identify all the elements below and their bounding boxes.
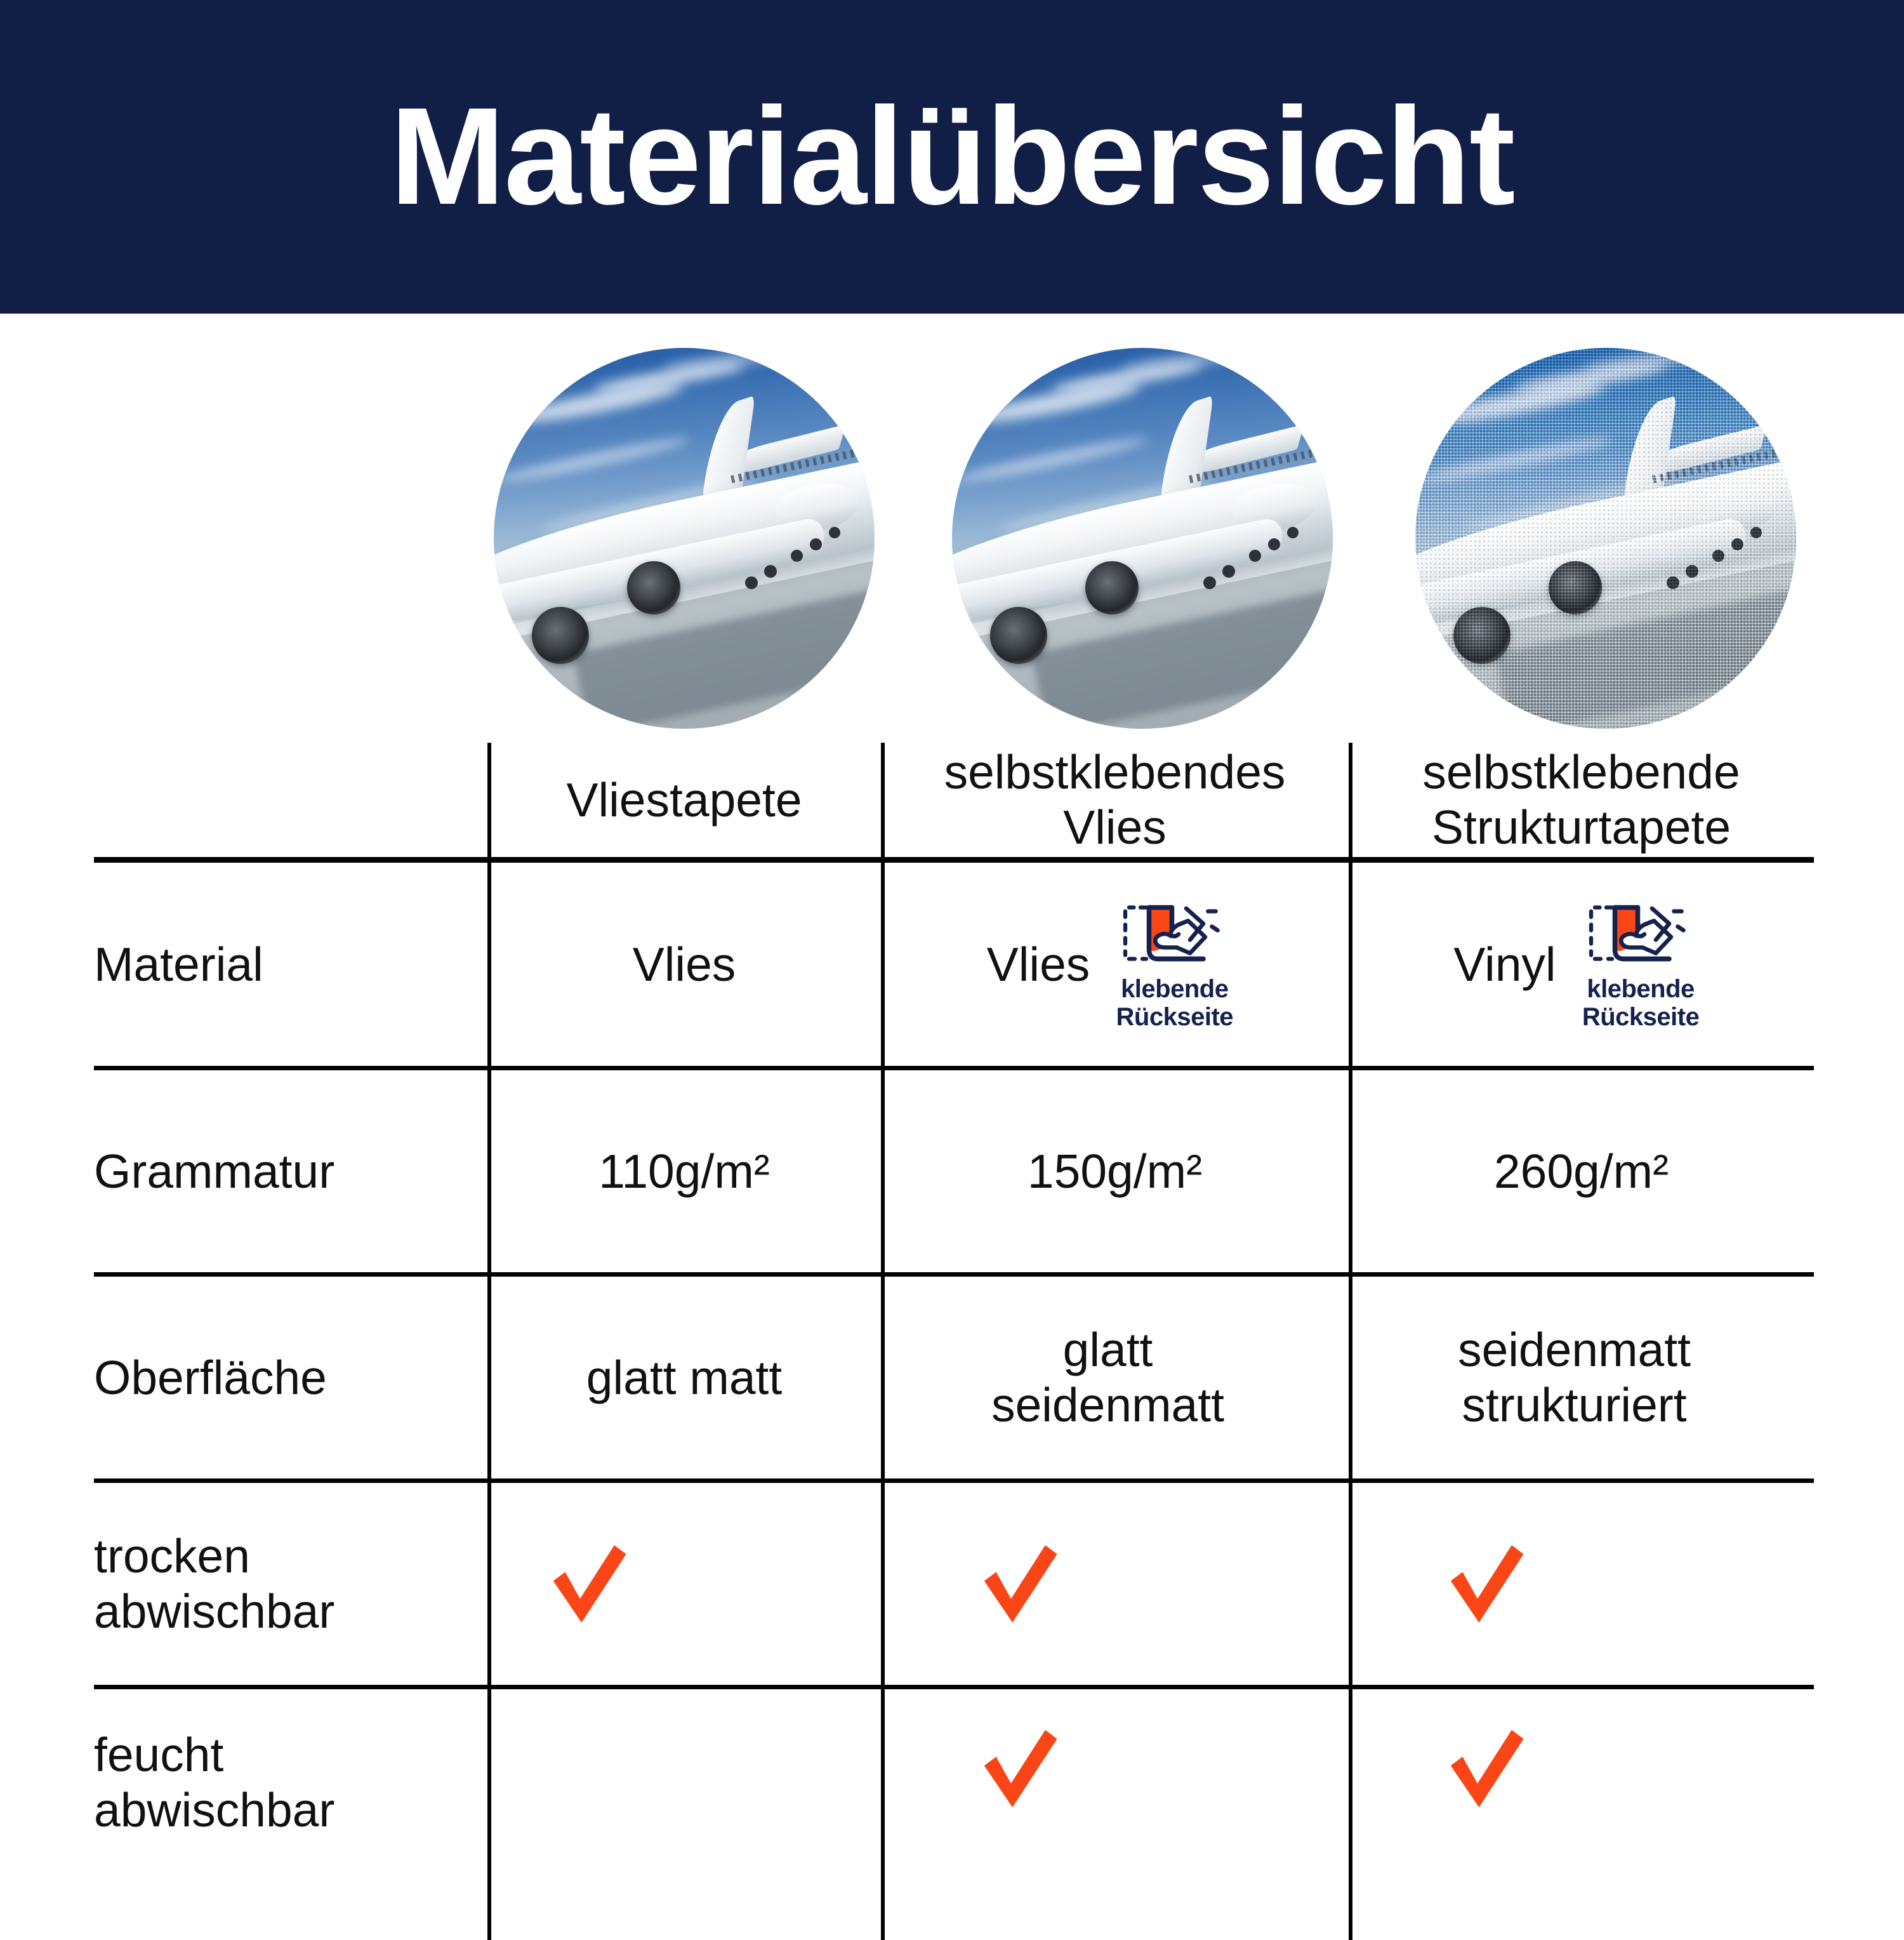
table-row: Material Vlies Vlies	[94, 863, 1814, 1066]
material-overview-page: Materialübersicht	[0, 0, 1904, 1904]
cell-grammatur-selbstklebende-strukturtapete: 260g/m²	[1349, 1070, 1814, 1272]
column-divider	[881, 1277, 885, 1478]
row-label-trocken-abwischbar: trocken abwischbar	[94, 1483, 392, 1685]
check-icon	[541, 1536, 637, 1631]
page-title: Materialübersicht	[390, 88, 1514, 226]
cell-value: Vinyl	[1453, 937, 1556, 992]
engine-icon	[627, 561, 680, 615]
badge-text: klebendeRückseite	[1582, 975, 1699, 1031]
thumbnail-selbstklebendes-vlies[interactable]	[952, 348, 1333, 729]
row-divider	[94, 1272, 1814, 1277]
cell-trocken-selbstklebendes-vlies	[786, 1483, 1253, 1685]
cell-value: Vlies	[633, 937, 736, 992]
adhesive-backing-badge: klebendeRückseite	[1573, 898, 1709, 1031]
thumbnail-vliestapete[interactable]	[494, 348, 875, 729]
cell-feucht-selbstklebende-strukturtapete	[1253, 1689, 1719, 1940]
table-row: trocken abwischbar	[94, 1483, 1814, 1685]
airplane-photo-textured	[1415, 348, 1796, 729]
engine-icon	[1085, 561, 1139, 615]
cell-oberflaeche-selbstklebende-strukturtapete: seidenmatt strukturiert	[1397, 1277, 1752, 1478]
column-header-selbstklebendes-vlies: selbstklebendes Vlies	[881, 743, 1349, 857]
check-icon	[972, 1536, 1068, 1631]
check-icon	[1439, 1721, 1534, 1816]
row-divider	[94, 1478, 1814, 1483]
cell-grammatur-selbstklebendes-vlies: 150g/m²	[881, 1070, 1349, 1272]
row-label-material: Material	[94, 863, 487, 1066]
check-icon	[972, 1721, 1068, 1816]
column-header-vliestapete: Vliestapete	[487, 743, 881, 857]
row-label-oberflaeche: Oberfläche	[94, 1277, 487, 1478]
cell-oberflaeche-selbstklebendes-vlies: glatt seidenmatt	[943, 1277, 1273, 1478]
row-divider	[94, 1685, 1814, 1689]
engine-icon	[532, 607, 589, 664]
row-divider	[94, 1066, 1814, 1070]
landing-gear-wheel	[1287, 527, 1299, 538]
airplane-photo	[494, 348, 875, 729]
empty-cell	[589, 1814, 590, 1815]
page-header: Materialübersicht	[0, 0, 1904, 314]
cell-trocken-vliestapete	[392, 1483, 786, 1685]
cell-oberflaeche-vliestapete: glatt matt	[487, 1277, 881, 1478]
cell-feucht-vliestapete	[392, 1689, 786, 1940]
table-row: feucht abwischbar	[94, 1689, 1814, 1940]
check-icon	[1439, 1536, 1534, 1631]
thumbnail-selbstklebende-strukturtapete[interactable]	[1415, 348, 1796, 729]
row-label-feucht-abwischbar: feucht abwischbar	[94, 1689, 392, 1940]
table-header-row: Vliestapete selbstklebendes Vlies selbst…	[94, 743, 1814, 857]
airplane-photo	[952, 348, 1333, 729]
product-thumbnail-row	[0, 348, 1904, 735]
landing-gear-wheel	[829, 527, 840, 538]
table-row: Oberfläche glatt matt glatt seidenmatt s…	[94, 1277, 1814, 1478]
engine-icon	[990, 607, 1047, 664]
column-divider	[1349, 1277, 1352, 1478]
cell-material-selbstklebende-strukturtapete: Vinyl	[1349, 863, 1814, 1066]
cell-grammatur-vliestapete: 110g/m²	[487, 1070, 881, 1272]
row-label-grammatur: Grammatur	[94, 1070, 487, 1272]
cell-trocken-selbstklebende-strukturtapete	[1253, 1483, 1719, 1685]
table-row: Grammatur 110g/m² 150g/m² 260g/m²	[94, 1070, 1814, 1272]
cell-material-selbstklebendes-vlies: Vlies	[881, 863, 1349, 1066]
table-corner-cell	[94, 743, 487, 857]
column-header-selbstklebende-strukturtapete: selbstklebende Strukturtapete	[1349, 743, 1814, 857]
peeling-adhesive-backing-icon	[1118, 898, 1232, 973]
row-divider	[94, 857, 1814, 863]
cell-feucht-selbstklebendes-vlies	[786, 1689, 1253, 1940]
adhesive-backing-badge: klebendeRückseite	[1106, 898, 1243, 1031]
badge-text: klebendeRückseite	[1116, 975, 1233, 1031]
cell-material-vliestapete: Vlies	[487, 863, 881, 1066]
peeling-adhesive-backing-icon	[1583, 898, 1698, 973]
surface-texture-dots	[1415, 348, 1796, 729]
material-comparison-table: Vliestapete selbstklebendes Vlies selbst…	[94, 743, 1814, 1940]
cell-value: Vlies	[987, 937, 1090, 992]
